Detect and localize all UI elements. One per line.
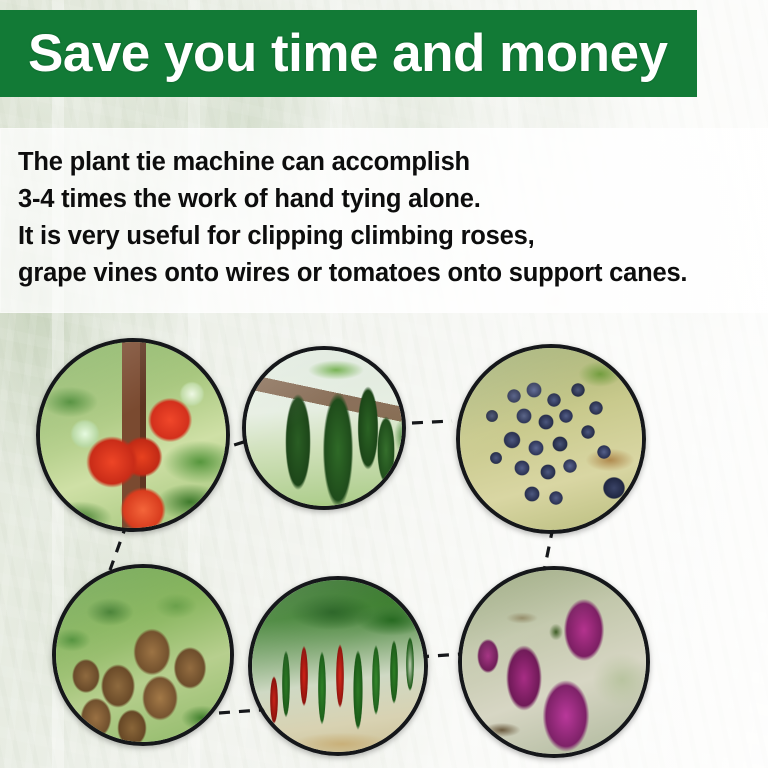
headline-title: Save you time and money: [0, 27, 667, 80]
photo-circle-tomatoes: [36, 338, 230, 532]
kiwi-photo: [56, 568, 230, 742]
poster-canvas: Save you time and money The plant tie ma…: [0, 0, 768, 768]
description-text-block: The plant tie machine can accomplish 3-4…: [0, 128, 768, 292]
description-line-4: grape vines onto wires or tomatoes onto …: [18, 255, 768, 292]
photo-circle-cucumbers: [242, 346, 406, 510]
photo-circle-eggplants: [458, 566, 650, 758]
description-line-3: It is very useful for clipping climbing …: [18, 218, 768, 255]
grapes-photo: [460, 348, 642, 530]
photo-circle-chili-peppers: [248, 576, 428, 756]
cucumbers-photo: [246, 350, 402, 506]
description-line-2: 3-4 times the work of hand tying alone.: [18, 181, 768, 218]
photo-circle-kiwi: [52, 564, 234, 746]
chili-peppers-photo: [252, 580, 424, 752]
photo-circle-grapes: [456, 344, 646, 534]
headline-banner: Save you time and money: [0, 10, 697, 97]
description-line-1: The plant tie machine can accomplish: [18, 144, 768, 181]
tomatoes-photo: [40, 342, 226, 528]
eggplants-photo: [462, 570, 646, 754]
description-panel: The plant tie machine can accomplish 3-4…: [0, 128, 768, 313]
